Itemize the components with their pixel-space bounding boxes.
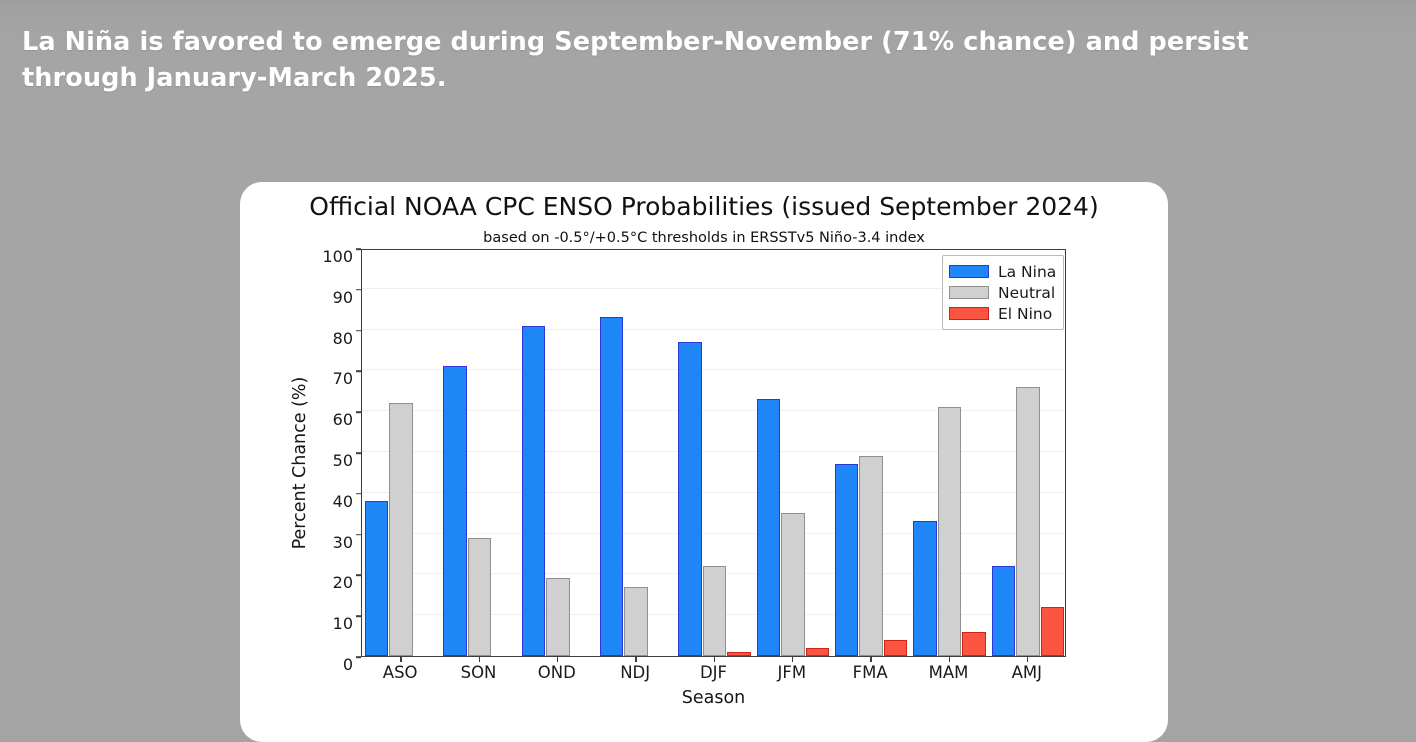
x-tick-mark (870, 657, 872, 662)
legend-item-neutral[interactable]: Neutral (949, 282, 1056, 303)
bar-amj-neutral (1016, 387, 1040, 656)
x-tick-label: MAM (929, 663, 969, 682)
x-tick-label: AMJ (1012, 663, 1042, 682)
legend-item-el-nino[interactable]: El Nino (949, 303, 1056, 324)
x-axis-tick-labels: ASOSONONDNDJDJFJFMFMAMAMAMJ (361, 663, 1066, 687)
x-tick-label: DJF (700, 663, 727, 682)
bar-mam-la-nina (913, 521, 937, 656)
bar-fma-la-nina (835, 464, 859, 656)
bar-aso-la-nina (365, 501, 389, 656)
legend-label: El Nino (998, 305, 1052, 323)
x-tick-mark (557, 657, 559, 662)
bar-mam-neutral (938, 407, 962, 656)
bar-fma-el-nino (884, 640, 908, 656)
chart-subtitle: based on -0.5°/+0.5°C thresholds in ERSS… (240, 230, 1168, 246)
x-tick-label: FMA (853, 663, 888, 682)
bar-amj-el-nino (1041, 607, 1065, 656)
screen-root: La Niña is favored to emerge during Sept… (0, 0, 1416, 723)
bar-ndj-neutral (624, 587, 648, 656)
x-tick-label: ASO (383, 663, 418, 682)
bar-djf-el-nino (727, 652, 751, 656)
x-tick-mark (714, 657, 716, 662)
bar-ndj-la-nina (600, 317, 624, 656)
bar-jfm-la-nina (757, 399, 781, 656)
legend-swatch-icon (949, 286, 989, 299)
bar-ond-neutral (546, 578, 570, 656)
x-tick-mark (949, 657, 951, 662)
bar-jfm-neutral (781, 513, 805, 656)
x-tick-mark (1027, 657, 1029, 662)
bar-jfm-el-nino (806, 648, 830, 656)
x-tick-label: JFM (778, 663, 807, 682)
legend-label: Neutral (998, 284, 1055, 302)
x-tick-mark (635, 657, 637, 662)
bar-son-la-nina (443, 366, 467, 656)
bar-djf-la-nina (678, 342, 702, 656)
y-axis-tick-labels: 0102030405060708090100 (295, 249, 353, 657)
x-tick-label: SON (461, 663, 497, 682)
x-tick-mark (479, 657, 481, 662)
x-tick-label: NDJ (620, 663, 650, 682)
chart-title: Official NOAA CPC ENSO Probabilities (is… (240, 192, 1168, 221)
enso-probability-chart: Official NOAA CPC ENSO Probabilities (is… (240, 182, 1168, 723)
legend-label: La Nina (998, 263, 1056, 281)
bar-amj-la-nina (992, 566, 1016, 656)
legend-item-la-nina[interactable]: La Nina (949, 261, 1056, 282)
bar-son-neutral (468, 538, 492, 656)
bar-fma-neutral (859, 456, 883, 656)
chart-legend: La NinaNeutralEl Nino (942, 255, 1064, 330)
x-tick-label: OND (538, 663, 576, 682)
bar-ond-la-nina (522, 326, 546, 656)
bar-mam-el-nino (962, 632, 986, 656)
chart-card: Official NOAA CPC ENSO Probabilities (is… (240, 182, 1168, 742)
bar-djf-neutral (703, 566, 727, 656)
legend-swatch-icon (949, 307, 989, 320)
headline-text: La Niña is favored to emerge during Sept… (22, 24, 1352, 96)
x-tick-mark (400, 657, 402, 662)
x-tick-mark (792, 657, 794, 662)
x-axis-label: Season (361, 688, 1066, 708)
bar-aso-neutral (389, 403, 413, 656)
legend-swatch-icon (949, 265, 989, 278)
